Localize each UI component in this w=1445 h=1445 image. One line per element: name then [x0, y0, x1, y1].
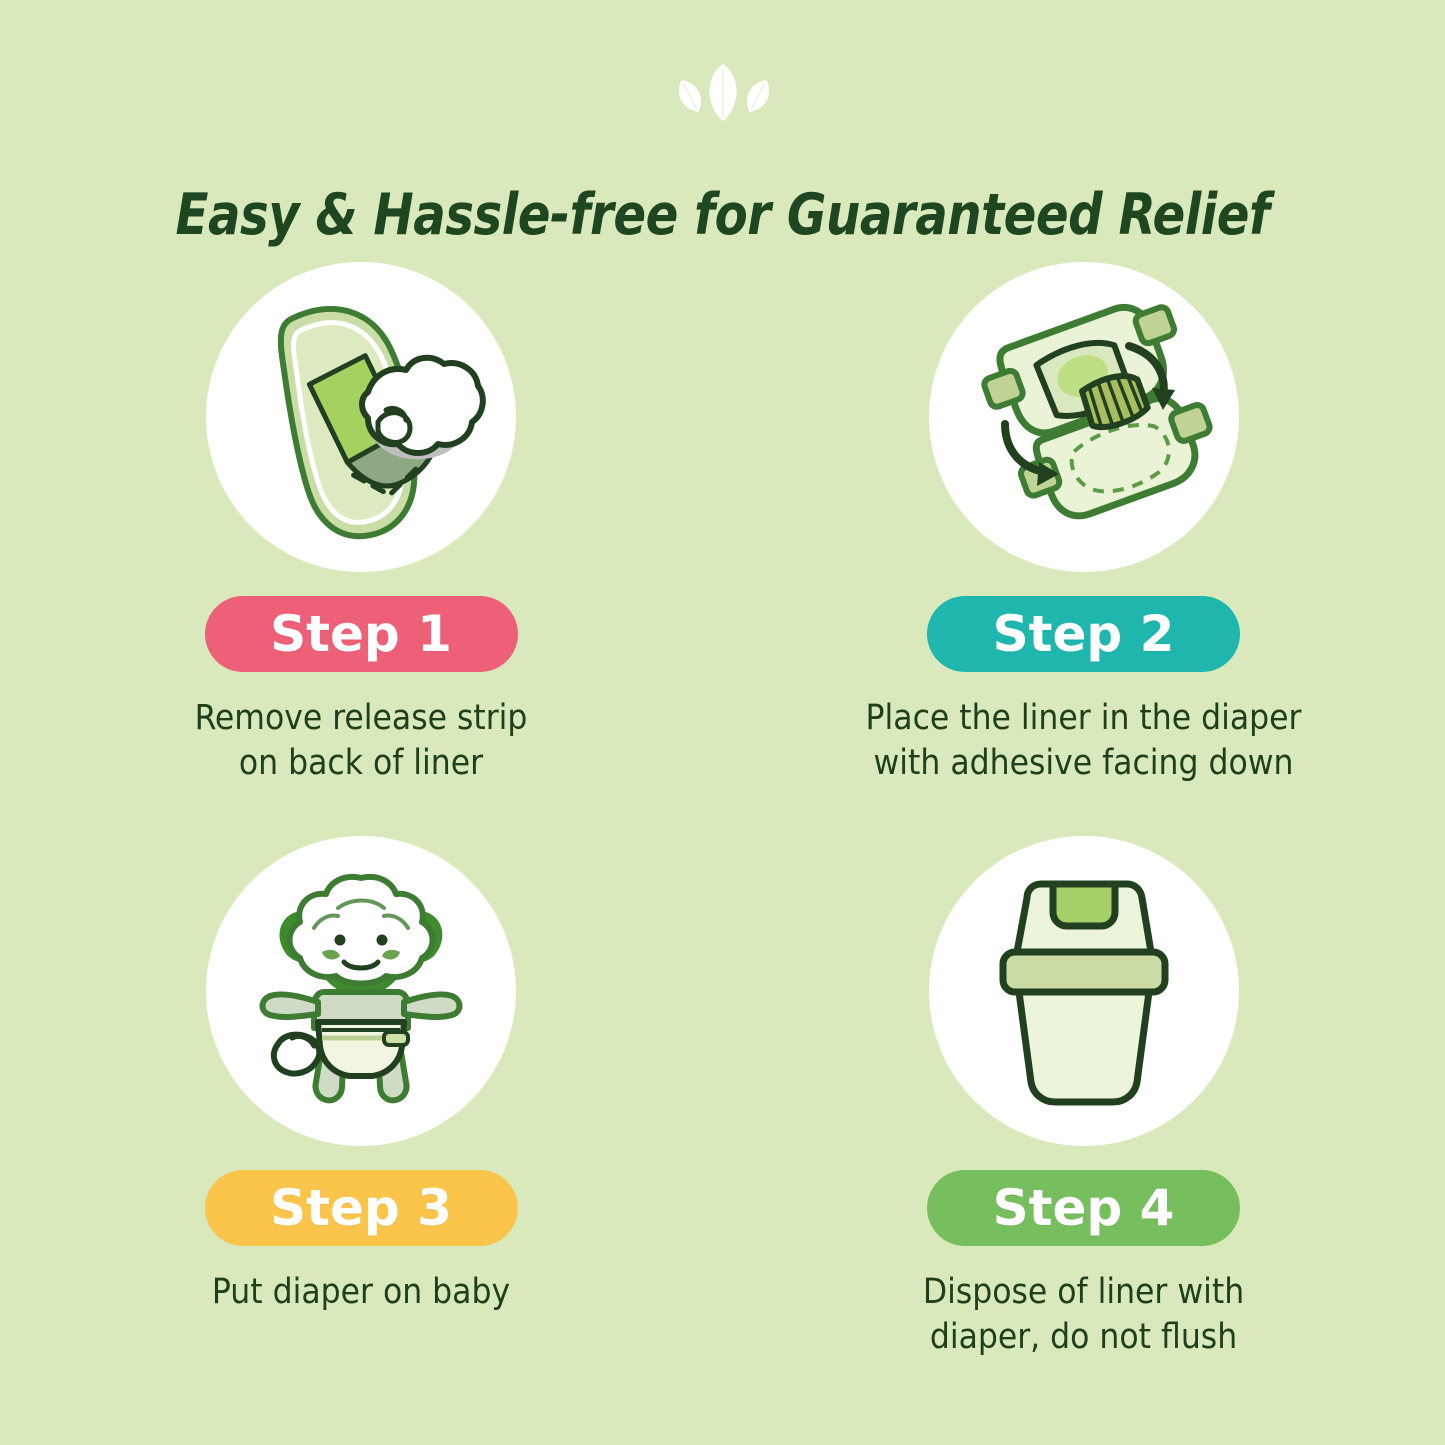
step-4-badge[interactable]: Step 4 — [927, 1170, 1240, 1246]
step-3-badge-label: Step 3 — [270, 1179, 452, 1237]
step-4-badge-label: Step 4 — [993, 1179, 1175, 1237]
trash-bin-illustration — [949, 856, 1219, 1126]
step-1-badge-label: Step 1 — [270, 605, 452, 663]
step-card-3: Step 3 Put diaper on baby — [0, 830, 722, 1360]
step-3-caption: Put diaper on baby — [212, 1270, 510, 1315]
step-1-caption-line-1: Remove release strip — [195, 696, 528, 741]
step-card-2: Step 2 Place the liner in the diaper wit… — [722, 262, 1445, 830]
step-2-badge[interactable]: Step 2 — [927, 596, 1240, 672]
leaf-ornament — [0, 58, 1445, 130]
liner-into-open-diaper-illustration — [941, 274, 1227, 560]
page-title: Easy & Hassle-free for Guaranteed Relief — [43, 184, 1401, 247]
step-card-4: Step 4 Dispose of liner with diaper, do … — [722, 830, 1445, 1360]
step-4-caption: Dispose of liner with diaper, do not flu… — [923, 1270, 1244, 1360]
step-1-caption-line-2: on back of liner — [195, 741, 528, 786]
step-4-illustration-circle — [929, 836, 1239, 1146]
three-leaves-icon — [668, 58, 778, 130]
step-card-1: Step 1 Remove release strip on back of l… — [0, 262, 722, 830]
step-3-illustration-circle — [206, 836, 516, 1146]
step-4-caption-line-1: Dispose of liner with — [923, 1270, 1244, 1315]
step-2-illustration-circle — [929, 262, 1239, 572]
step-2-caption: Place the liner in the diaper with adhes… — [866, 696, 1302, 786]
baby-mascot-wearing-diaper-illustration — [226, 856, 496, 1126]
step-3-caption-line-1: Put diaper on baby — [212, 1270, 510, 1315]
liner-peel-release-strip-illustration — [218, 274, 504, 560]
step-2-caption-line-2: with adhesive facing down — [866, 741, 1302, 786]
step-1-badge[interactable]: Step 1 — [205, 596, 518, 672]
steps-grid: Step 1 Remove release strip on back of l… — [0, 262, 1445, 1360]
step-2-caption-line-1: Place the liner in the diaper — [866, 696, 1302, 741]
infographic-page: Easy & Hassle-free for Guaranteed Relief — [0, 0, 1445, 1445]
step-3-badge[interactable]: Step 3 — [205, 1170, 518, 1246]
step-4-caption-line-2: diaper, do not flush — [923, 1315, 1244, 1360]
step-1-illustration-circle — [206, 262, 516, 572]
step-2-badge-label: Step 2 — [993, 605, 1175, 663]
step-1-caption: Remove release strip on back of liner — [195, 696, 528, 786]
